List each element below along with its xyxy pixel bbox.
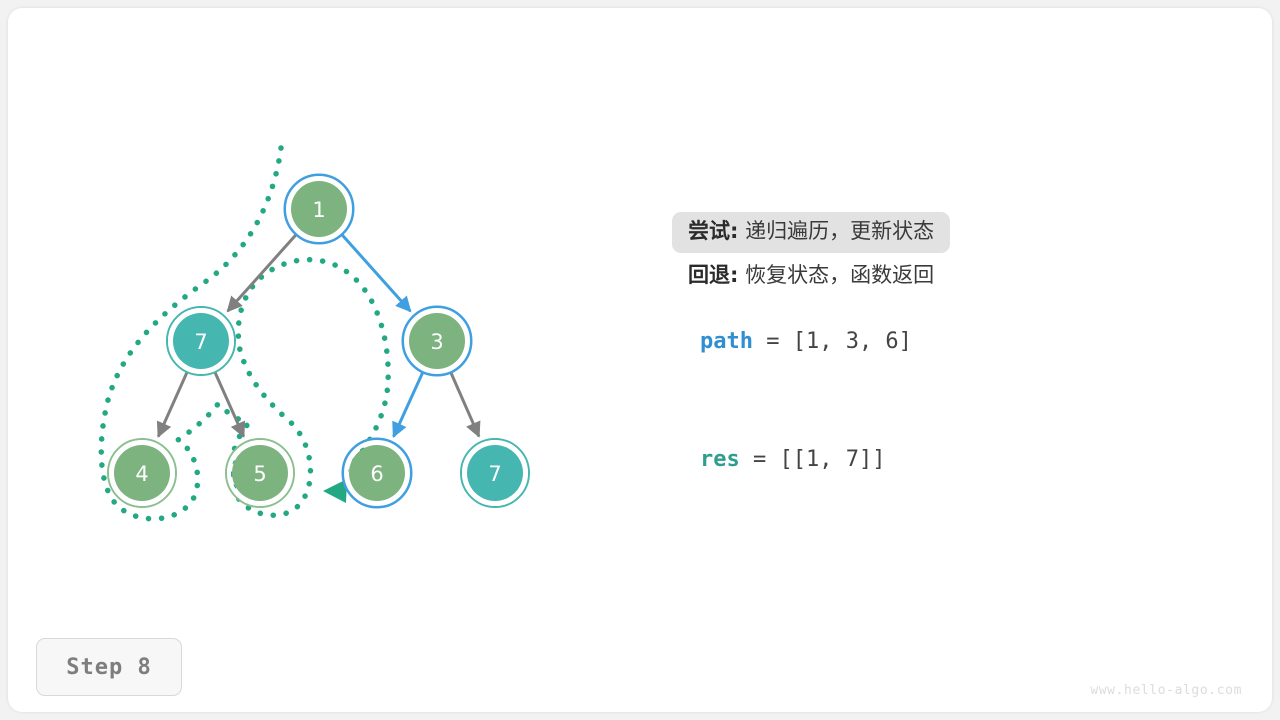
tree-nodes: 1734567 [108, 175, 529, 507]
try-text: 递归遍历，更新状态 [738, 221, 934, 242]
path-state-line: path = [1, 3, 6] [700, 329, 912, 354]
info-line-backtrack: 回退: 恢复状态，函数返回 [688, 254, 1208, 298]
tree-diagram: 1734567 [0, 0, 1280, 720]
info-line-try: 尝试: 递归遍历，更新状态 [688, 210, 1208, 254]
tree-node-1[interactable]: 1 [285, 175, 353, 243]
tree-edge [158, 372, 187, 436]
tree-edge [451, 372, 479, 436]
tree-node-3[interactable]: 3 [403, 307, 471, 375]
node-value-label: 7 [488, 462, 501, 486]
tree-node-7[interactable]: 7 [167, 307, 235, 375]
tree-edge [394, 372, 423, 437]
backtrack-label: 回退: [688, 265, 738, 286]
node-value-label: 6 [370, 462, 383, 486]
tree-node-4[interactable]: 4 [108, 439, 176, 507]
backtrack-box: 回退: 恢复状态，函数返回 [672, 256, 950, 297]
res-state-line: res = [[1, 7]] [700, 447, 885, 472]
node-value-label: 5 [253, 462, 266, 486]
path-variable-name: path [700, 329, 753, 354]
screenshot-canvas: 1734567 尝试: 递归遍历，更新状态 回退: 恢复状态，函数返回 path… [0, 0, 1280, 720]
try-label: 尝试: [688, 221, 738, 242]
tree-node-6[interactable]: 6 [343, 439, 411, 507]
tree-node-5[interactable]: 5 [226, 439, 294, 507]
backtrack-text: 恢复状态，函数返回 [738, 265, 934, 286]
path-variable-value: = [1, 3, 6] [753, 329, 912, 354]
info-panel: 尝试: 递归遍历，更新状态 回退: 恢复状态，函数返回 [688, 210, 1208, 298]
node-value-label: 4 [135, 462, 148, 486]
tree-edge [342, 234, 411, 311]
node-value-label: 1 [312, 198, 325, 222]
res-variable-name: res [700, 447, 740, 472]
res-variable-value: = [[1, 7]] [740, 447, 886, 472]
watermark: www.hello-algo.com [1090, 683, 1242, 698]
try-highlight-box: 尝试: 递归遍历，更新状态 [672, 212, 950, 253]
tree-node-7[interactable]: 7 [461, 439, 529, 507]
tree-edge [228, 234, 297, 311]
node-value-label: 3 [430, 330, 443, 354]
step-badge: Step 8 [36, 638, 182, 696]
node-value-label: 7 [194, 330, 207, 354]
